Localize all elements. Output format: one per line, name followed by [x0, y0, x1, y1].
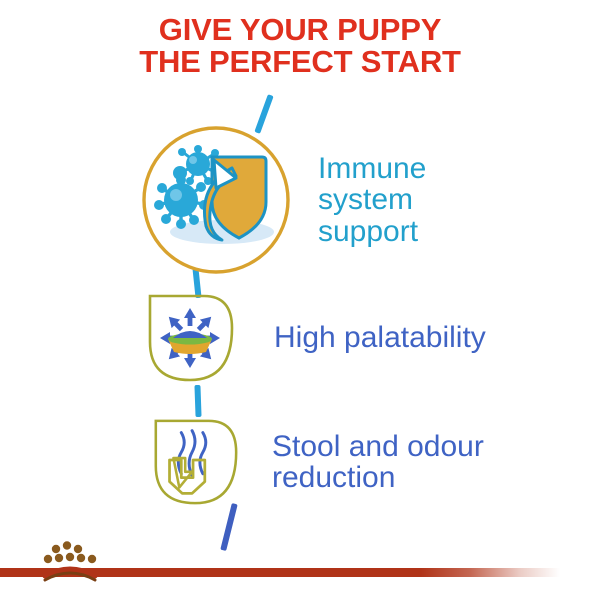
page-title: GIVE YOUR PUPPY THE PERFECT START: [0, 14, 600, 77]
crown-dots-top: [52, 541, 82, 553]
royal-canin-crown-logo: [40, 538, 102, 583]
benefit-label-line: Immune: [318, 153, 426, 184]
benefit-row-immune-system-support: Immune system support: [136, 120, 586, 280]
crown-dots-bottom: [44, 553, 96, 563]
benefit-label-line: system: [318, 184, 426, 215]
shield-virus-icon: [136, 120, 296, 280]
shield-virus-icon-svg: [136, 120, 296, 280]
page-title-line-1: GIVE YOUR PUPPY: [0, 14, 600, 46]
benefit-label-line: reduction: [272, 462, 484, 493]
benefit-label-line: Stool and odour: [272, 431, 484, 462]
benefit-label-palatability: High palatability: [274, 322, 486, 353]
page-title-line-2: THE PERFECT START: [0, 46, 600, 78]
poster-canvas: GIVE YOUR PUPPY THE PERFECT START: [0, 0, 600, 600]
food-bowl-arrows-icon: [140, 288, 240, 388]
benefit-label-line: High palatability: [274, 322, 486, 353]
benefit-row-stool-and-odour-reduction: Stool and odour reduction: [146, 412, 596, 512]
benefit-label-immune: Immune system support: [318, 153, 426, 247]
odour-reduction-icon: [146, 413, 244, 511]
benefit-label-line: support: [318, 216, 426, 247]
royal-canin-crown-logo-svg: [40, 538, 102, 583]
benefit-label-stool-odour: Stool and odour reduction: [272, 431, 484, 493]
food-bowl-arrows-icon-svg: [140, 288, 240, 388]
odour-reduction-icon-svg: [146, 413, 244, 511]
benefit-row-high-palatability: High palatability: [140, 288, 590, 388]
